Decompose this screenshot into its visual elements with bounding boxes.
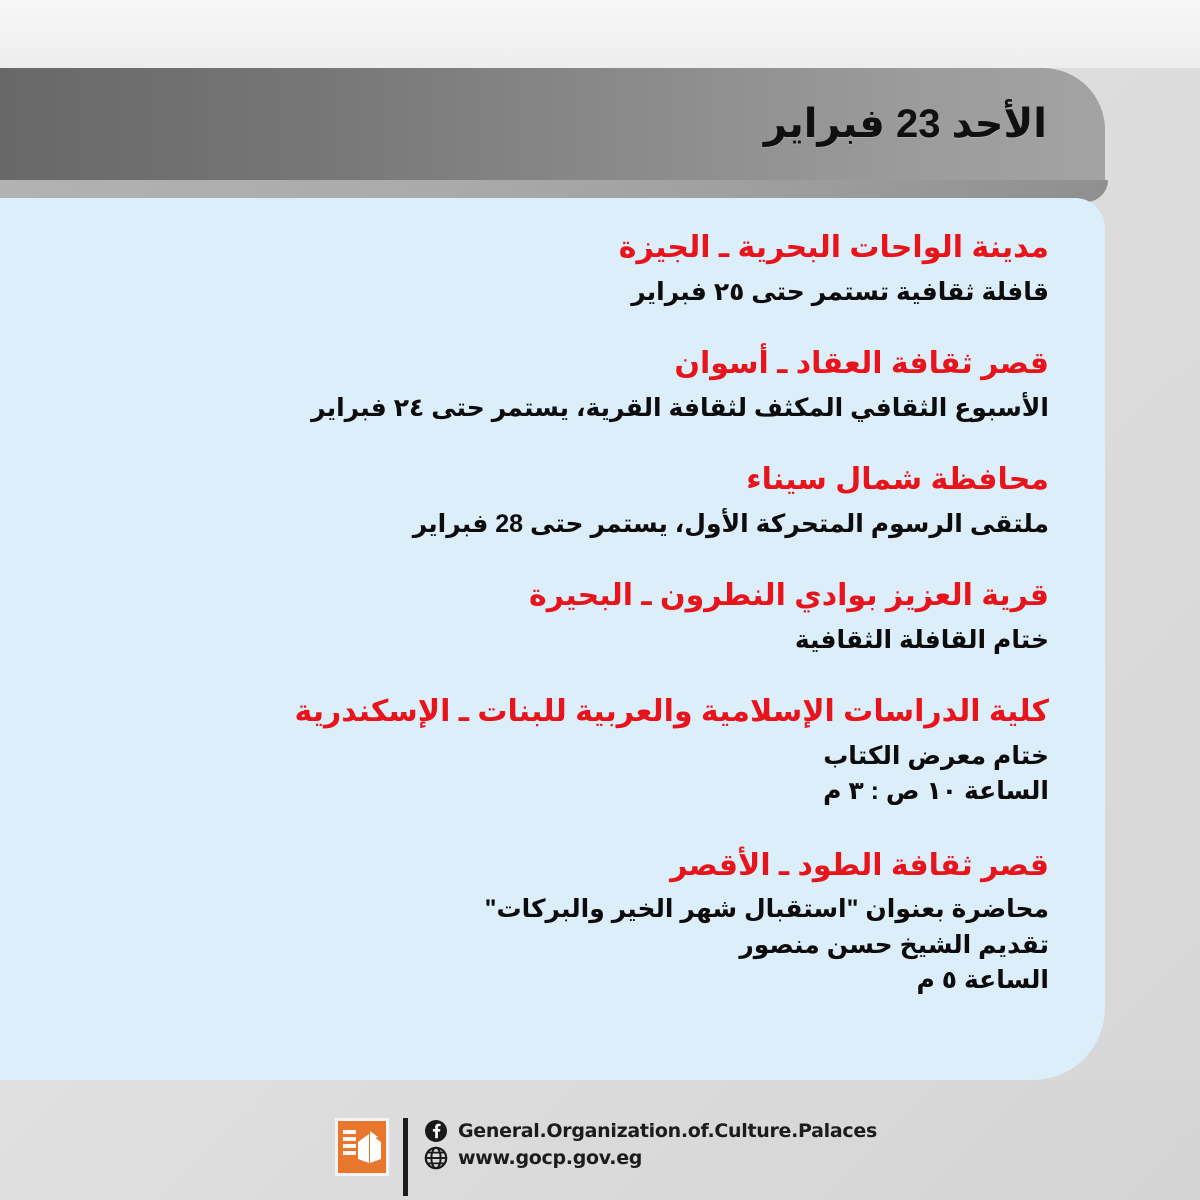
gocp-logo-icon <box>335 1118 389 1176</box>
event-title: قرية العزيز بوادي النطرون ـ البحيرة <box>40 576 1049 617</box>
facebook-icon <box>424 1119 448 1143</box>
facebook-handle: General.Organization.of.Culture.Palaces <box>458 1121 877 1142</box>
facebook-row[interactable]: General.Organization.of.Culture.Palaces <box>424 1119 877 1143</box>
event-detail-line: محاضرة بعنوان "استقبال شهر الخير والبركا… <box>40 892 1049 928</box>
events-panel: مدينة الواحات البحرية ـ الجيزة قافلة ثقا… <box>0 198 1105 1080</box>
header-date: الأحد 23 فبراير <box>0 101 1047 147</box>
header-bar: الأحد 23 فبراير <box>0 68 1105 180</box>
event-detail-line: الساعة ١٠ ص : ٣ م <box>40 774 1049 810</box>
globe-icon <box>424 1146 448 1170</box>
event-detail-line: ختام القافلة الثقافية <box>40 623 1049 659</box>
event-title: كلية الدراسات الإسلامية والعربية للبنات … <box>40 692 1049 733</box>
event-title: قصر ثقافة العقاد ـ أسوان <box>40 344 1049 385</box>
footer-divider <box>403 1118 408 1196</box>
event-item: قرية العزيز بوادي النطرون ـ البحيرة ختام… <box>40 576 1049 658</box>
event-item: قصر ثقافة الطود ـ الأقصر محاضرة بعنوان "… <box>40 846 1049 999</box>
logo-book-icon <box>356 1129 382 1169</box>
event-title: محافظة شمال سيناء <box>40 460 1049 501</box>
event-detail-line: ملتقى الرسوم المتحركة الأول، يستمر حتى 2… <box>40 507 1049 543</box>
event-item: محافظة شمال سيناء ملتقى الرسوم المتحركة … <box>40 460 1049 542</box>
event-item: مدينة الواحات البحرية ـ الجيزة قافلة ثقا… <box>40 228 1049 310</box>
website-url: www.gocp.gov.eg <box>458 1148 642 1169</box>
event-detail-line: ختام معرض الكتاب <box>40 739 1049 775</box>
top-white-band <box>0 0 1200 68</box>
logo-text-lines-icon <box>343 1130 356 1155</box>
footer-content: General.Organization.of.Culture.Palaces … <box>335 1118 877 1196</box>
event-item: كلية الدراسات الإسلامية والعربية للبنات … <box>40 692 1049 810</box>
event-title: مدينة الواحات البحرية ـ الجيزة <box>40 228 1049 269</box>
event-detail-line: الساعة ٥ م <box>40 963 1049 999</box>
event-detail-line: الأسبوع الثقافي المكثف لثقافة القرية، يس… <box>40 391 1049 427</box>
footer-contacts: General.Organization.of.Culture.Palaces … <box>424 1118 877 1170</box>
event-detail-line: قافلة ثقافية تستمر حتى ٢٥ فبراير <box>40 275 1049 311</box>
event-detail-line: تقديم الشيخ حسن منصور <box>40 928 1049 964</box>
event-title: قصر ثقافة الطود ـ الأقصر <box>40 846 1049 887</box>
event-item: قصر ثقافة العقاد ـ أسوان الأسبوع الثقافي… <box>40 344 1049 426</box>
website-row[interactable]: www.gocp.gov.eg <box>424 1146 877 1170</box>
